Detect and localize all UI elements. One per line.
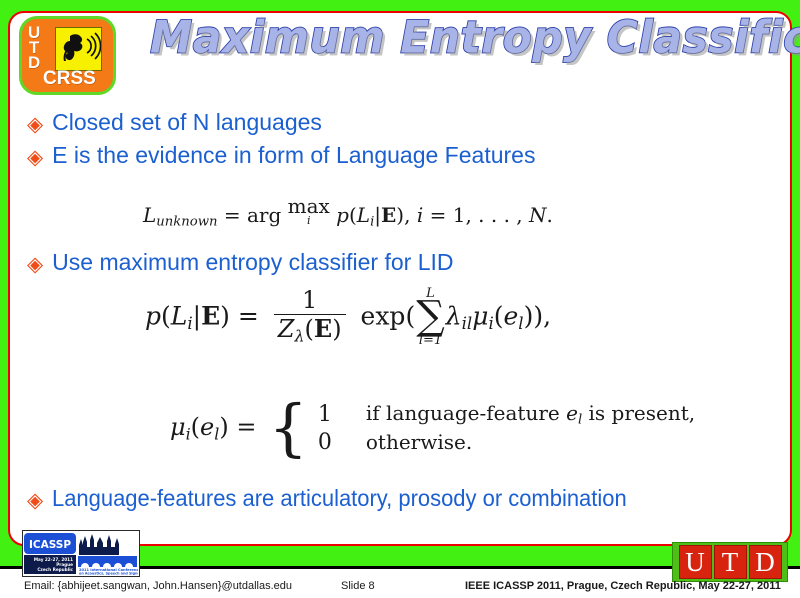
svg-text:on Acoustics, Speech and Signa: on Acoustics, Speech and Signal Processi… [79,571,138,575]
bullet-item-3: ◈ Use maximum entropy classifier for LID [27,251,454,274]
svg-text:ICASSP: ICASSP [29,539,71,551]
eq1-p: p [336,203,349,227]
eq2-mu: μ [472,301,488,330]
eq3-case2-value: 0 [318,429,366,455]
eq3-equals: = [236,413,256,441]
eq3-case2-condition: otherwise. [366,429,695,455]
bullet-item-2: ◈ E is the evidence in form of Language … [27,144,535,167]
piecewise-row-1: μi(el) = { 1 if language-feature el is p… [170,400,695,429]
bullet-item-1-label: Closed set of N languages [52,111,322,134]
eq3-lhs: μi(el) = [170,400,256,456]
svg-text:Czech Republic: Czech Republic [37,567,73,572]
eq3-mu: μ [170,413,186,441]
eq1-N: N [529,203,547,227]
eq2-summation: L ∑ l=1 [416,287,445,347]
eq3-case1-text-b: is present, [582,401,695,425]
eq2-partition-fraction: 1 Zλ(E) [274,288,346,345]
eq3-left-brace: { [256,400,317,456]
equation-feature-indicator: μi(el) = { 1 if language-feature el is p… [170,400,695,456]
eq1-E: E [381,203,396,227]
eq1-equals-2: = [430,203,447,227]
icassp-logo: ICASSP May 22-27, 2011 Prague Czech Repu… [22,530,140,577]
bullet-item-4: ◈ Language-features are articulatory, pr… [27,487,654,510]
eq1-comma: , [404,203,410,227]
sigma-icon: ∑ [416,300,445,334]
eq3-close: ) [219,413,228,441]
eq1-period: . [547,203,553,227]
eq2-close-paren: ) [220,301,230,330]
diamond-bullet-icon: ◈ [27,114,43,135]
bullet-item-2-label: E is the evidence in form of Language Fe… [52,144,535,167]
speaker-soundwave-icon [55,27,102,71]
eq2-p: p [145,301,161,330]
eq2-equals: = [238,301,259,330]
utd-logo: U T D [672,542,788,582]
eq2-Z-close: ) [332,315,341,343]
eq2-E: E [201,301,220,330]
eq1-lhs-sub: unknown [156,215,217,230]
eq2-e: e [503,301,518,330]
eq1-lhs-L: L [143,203,156,227]
equation-maxent-probability: p(Li|E) = 1 Zλ(E) exp( L ∑ l=1 λilμi(el)… [145,288,551,348]
bullet-item-1: ◈ Closed set of N languages [27,111,322,134]
eq1-one: 1 [453,203,466,227]
eq1-L: L [357,203,370,227]
eq2-denominator: Zλ(E) [274,314,346,345]
eq3-case1-text-a: if language-feature [366,401,566,425]
eq2-Z-sub-lambda: λ [294,326,304,345]
eq2-exp: exp [361,301,406,330]
footer-slide-number: Slide 8 [341,580,375,592]
eq2-Z-E: E [314,314,332,343]
bullet-item-3-label: Use maximum entropy classifier for LID [52,251,453,274]
diamond-bullet-icon: ◈ [27,490,43,511]
eq1-argmax-operator: max i [288,196,330,226]
eq1-i: i [417,203,423,227]
eq3-case1-e: e [566,401,578,425]
crss-logo: U T D CRSS [19,16,116,95]
eq2-lambda-sub: il [462,314,473,333]
eq2-sum-lower: l=1 [416,334,445,347]
eq2-Z-open: ( [305,315,314,343]
utd-logo-letter-u: U [679,545,712,579]
eq3-open: ( [191,413,200,441]
eq2-bar: | [193,301,201,330]
eq3-case1-value: 1 [318,400,366,429]
eq3-e: e [200,413,214,441]
eq2-L: L [171,301,188,330]
eq2-paren-close: ) [533,301,543,330]
eq2-numerator: 1 [274,288,346,313]
page-title: Maximum Entropy Classification [150,12,800,64]
diamond-bullet-icon: ◈ [27,147,43,168]
eq1-equals: = [224,203,241,227]
slide-content-panel [8,11,792,546]
eq3-case1-condition: if language-feature el is present, [366,400,695,429]
eq1-arg: arg [247,203,281,227]
slide-canvas: U T D CRSS Maximum Entropy Classificatio… [0,0,800,598]
eq2-open-paren: ( [161,301,171,330]
crss-utd-letter-d: D [28,55,40,70]
bullet-item-4-label: Language-features are articulatory, pros… [52,487,627,510]
eq2-lambda: λ [446,301,462,330]
crss-utd-letters: U T D [28,25,40,70]
crss-logo-wordmark: CRSS [43,68,96,90]
eq2-trailing-comma: , [543,301,551,330]
footer-email: Email: {abhijeet.sangwan, John.Hansen}@u… [24,580,292,592]
eq1-close-paren: ) [396,203,404,227]
equation-argmax: Lunknown = arg max i p(Li|E), i = 1, . .… [143,196,553,230]
utd-logo-letter-d: D [749,545,782,579]
eq2-paren-open: ( [405,301,415,330]
eq1-dots: , . . . , [465,203,522,227]
eq1-open-paren: ( [349,203,357,227]
eq2-mu-close: ) [524,301,534,330]
utd-logo-letter-t: T [714,545,747,579]
title-area: Maximum Entropy Classification [150,12,780,78]
eq2-Z: Z [278,315,295,343]
footer-conference: IEEE ICASSP 2011, Prague, Czech Republic… [465,580,781,592]
prague-skyline-bridge-icon: ICASSP May 22-27, 2011 Prague Czech Repu… [23,531,138,575]
piecewise-table: μi(el) = { 1 if language-feature el is p… [170,400,695,456]
diamond-bullet-icon: ◈ [27,254,43,275]
